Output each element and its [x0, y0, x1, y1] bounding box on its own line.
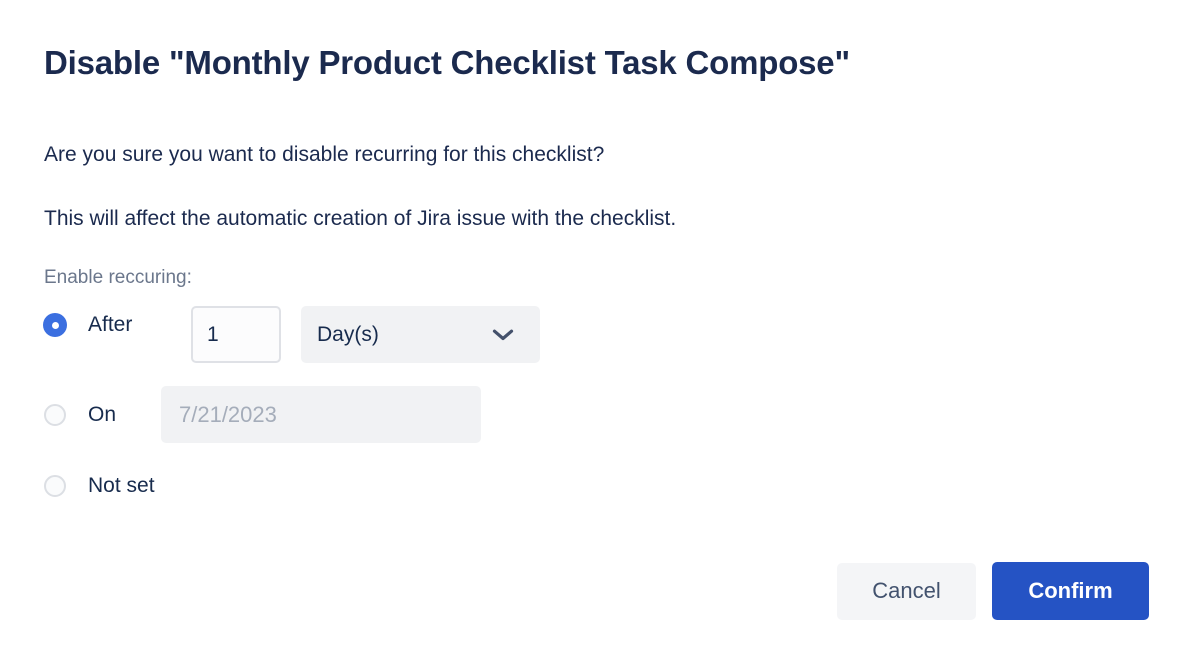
radio-label-on: On: [88, 403, 116, 427]
enable-recurring-label: Enable reccuring:: [44, 267, 192, 289]
radio-after[interactable]: [44, 314, 66, 336]
radio-label-after: After: [88, 313, 132, 337]
radio-on[interactable]: [44, 404, 66, 426]
cancel-button[interactable]: Cancel: [837, 563, 976, 620]
chevron-down-icon: [492, 328, 514, 342]
radio-row-not-set[interactable]: Not set: [44, 464, 155, 508]
dialog-message-primary: Are you sure you want to disable recurri…: [44, 143, 604, 167]
disable-recurring-dialog: Disable "Monthly Product Checklist Task …: [0, 0, 1194, 670]
radio-after-dot: [52, 322, 59, 329]
interval-unit-select[interactable]: Day(s): [301, 306, 540, 363]
interval-unit-value: Day(s): [317, 323, 379, 347]
dialog-footer: Cancel Confirm: [837, 562, 1149, 620]
dialog-message-secondary: This will affect the automatic creation …: [44, 207, 676, 231]
confirm-button[interactable]: Confirm: [992, 562, 1149, 620]
recurring-date-input[interactable]: [161, 386, 481, 443]
radio-label-not-set: Not set: [88, 474, 155, 498]
radio-not-set[interactable]: [44, 475, 66, 497]
radio-row-on[interactable]: On: [44, 393, 116, 437]
radio-row-after[interactable]: After: [44, 303, 132, 347]
interval-number-input[interactable]: [191, 306, 281, 363]
dialog-title: Disable "Monthly Product Checklist Task …: [44, 44, 850, 82]
